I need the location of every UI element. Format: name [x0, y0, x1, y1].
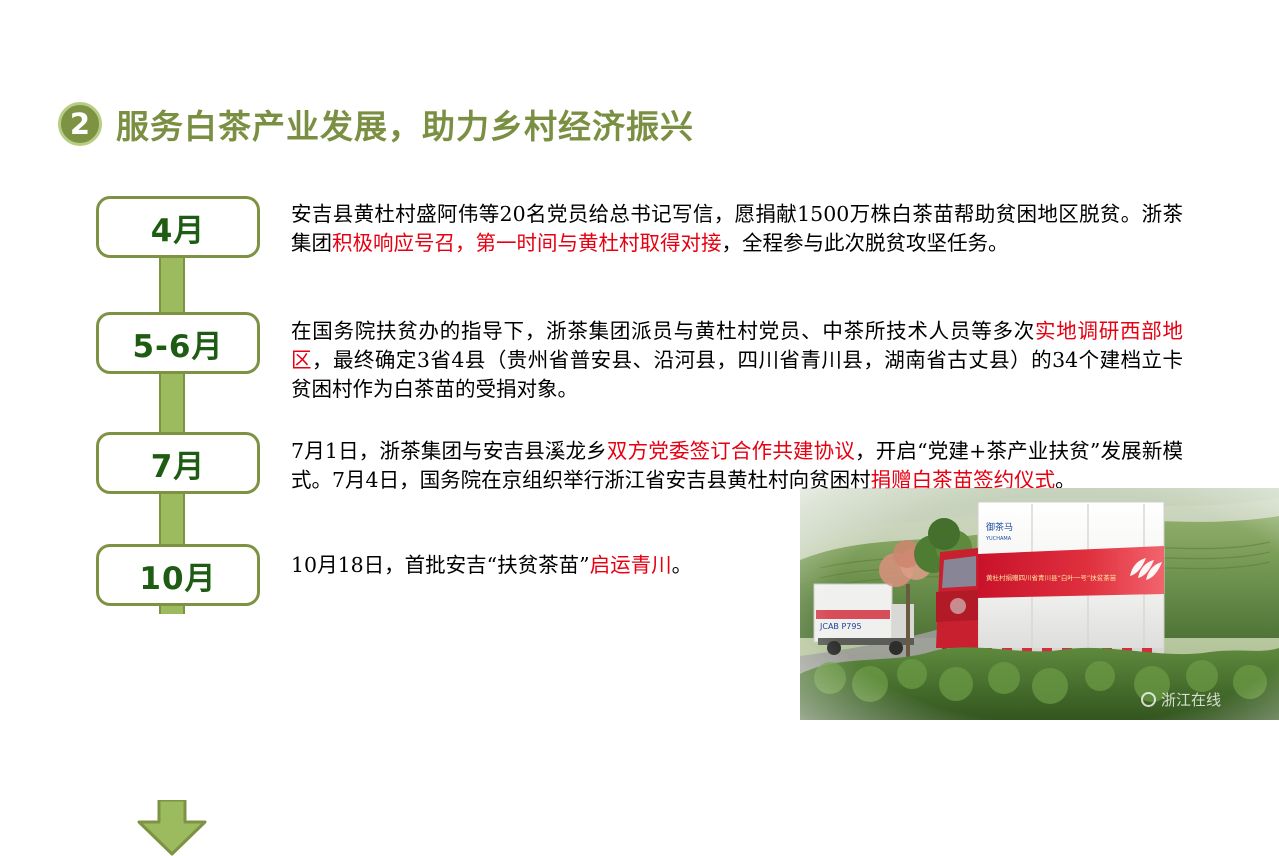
body-text-run: 7月1日，浙茶集团与安吉县溪龙乡 — [291, 439, 607, 463]
truck-brand-sub: YUCHAMA — [985, 536, 1012, 542]
body-text-run: 10月18日，首批安吉“扶贫茶苗” — [291, 553, 590, 577]
page-title: 服务白茶产业发展，助力乡村经济振兴 — [116, 100, 694, 148]
timeline-node-month-10[interactable]: 10月 — [96, 544, 260, 606]
watermark-ring-icon — [1141, 692, 1156, 707]
highlighted-text-run: 双方党委签订合作共建协议 — [607, 439, 855, 463]
timeline-node-month-4[interactable]: 4月 — [96, 196, 260, 258]
body-text-run: 在国务院扶贫办的指导下，浙茶集团派员与黄杜村党员、中茶所技术人员等多次 — [291, 319, 1035, 343]
timeline-text-month-5-6: 在国务院扶贫办的指导下，浙茶集团派员与黄杜村党员、中茶所技术人员等多次实地调研西… — [291, 317, 1183, 404]
photo-illustration: JCAB P795 黄杜村捐赠四川省青川县“白叶一号”扶贫茶苗 — [800, 488, 1279, 720]
timeline-node-month-7[interactable]: 7月 — [96, 432, 260, 494]
timeline-node-month-5-6[interactable]: 5-6月 — [96, 312, 260, 374]
step-number-badge: 2 — [58, 102, 102, 146]
body-text-run: ，全程参与此次脱贫攻坚任务。 — [722, 231, 1009, 255]
watermark-text: 浙江在线 — [1161, 689, 1221, 710]
highlighted-text-run: 启运青川 — [590, 553, 672, 577]
svg-text:JCAB P795: JCAB P795 — [819, 622, 862, 631]
timeline-text-month-4: 安吉县黄杜村盛阿伟等20名党员给总书记写信，愿捐献1500万株白茶苗帮助贫困地区… — [291, 200, 1183, 258]
timeline-node-label: 10月 — [139, 553, 216, 598]
truck-banner-text: 黄杜村捐赠四川省青川县“白叶一号”扶贫茶苗 — [986, 573, 1117, 582]
body-text-run: 。 — [672, 553, 693, 577]
truck-brand-text: 御茶马 — [986, 521, 1013, 533]
highlighted-text-run: 积极响应号召，第一时间与黄杜村取得对接 — [332, 231, 722, 255]
tea-seedling-truck-photo: JCAB P795 黄杜村捐赠四川省青川县“白叶一号”扶贫茶苗 — [800, 488, 1279, 720]
body-text-run: ，最终确定3省4县（贵州省普安县、沿河县，四川省青川县，湖南省古丈县）的34个建… — [291, 348, 1183, 401]
timeline-node-label: 5-6月 — [132, 321, 223, 366]
slide-header: 2 服务白茶产业发展，助力乡村经济振兴 — [58, 100, 694, 148]
photo-watermark: 浙江在线 — [1141, 689, 1221, 710]
down-arrow-icon — [135, 800, 209, 856]
timeline-text-month-7: 7月1日，浙茶集团与安吉县溪龙乡双方党委签订合作共建协议，开启“党建+茶产业扶贫… — [291, 437, 1183, 495]
timeline-node-label: 7月 — [151, 441, 206, 486]
timeline: 4月 5-6月 7月 10月 — [96, 196, 260, 666]
timeline-node-label: 4月 — [151, 205, 206, 250]
